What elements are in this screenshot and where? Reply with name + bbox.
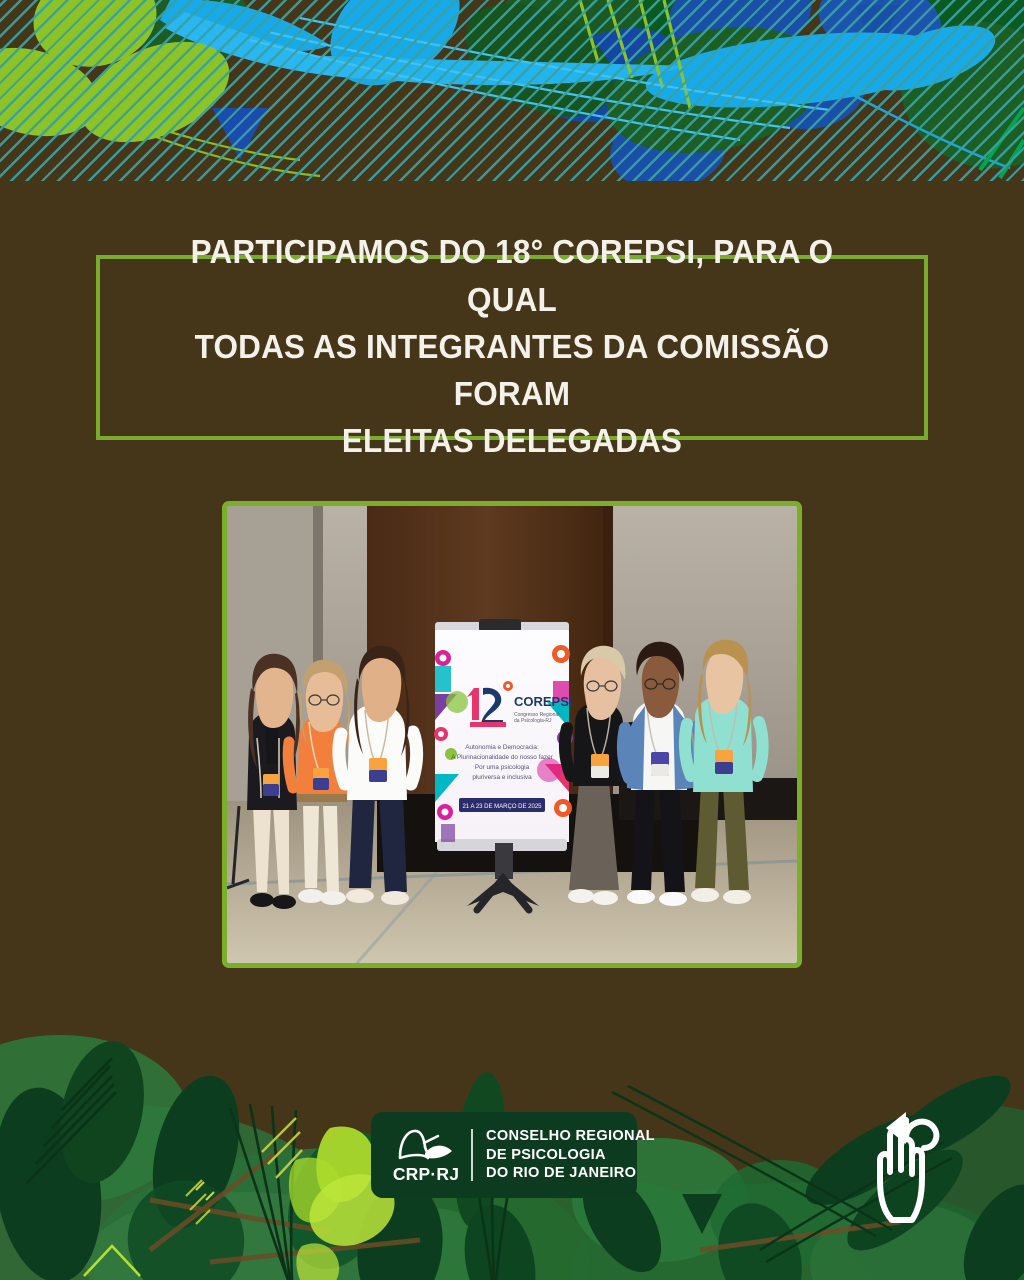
svg-text:A Plurinacionalidade do nosso: A Plurinacionalidade do nosso fazer (451, 754, 553, 761)
svg-text:21 A 23 DE MARÇO DE 2025: 21 A 23 DE MARÇO DE 2025 (462, 804, 542, 810)
page-title: PARTICIPAMOS DO 18° COREPSI, PARA O QUAL… (149, 229, 875, 465)
svg-text:COREPSI: COREPSI (514, 694, 573, 709)
event-photo-frame: COREPSI Congresso Regional da Psicologia… (222, 501, 802, 968)
crp-rj-logo-badge: CRP·RJ CONSELHO REGIONAL DE PSICOLOGIA D… (371, 1112, 637, 1198)
logo-line-3: DO RIO DE JANEIRO (486, 1165, 655, 1182)
open-book-bird-icon (394, 1127, 458, 1165)
event-photo: COREPSI Congresso Regional da Psicologia… (227, 506, 797, 963)
event-photo-illustration: COREPSI Congresso Regional da Psicologia… (227, 506, 797, 963)
logo-divider (471, 1129, 473, 1181)
headline-line-2: TODAS AS INTEGRANTES DA COMISSÃO FORAM (195, 329, 830, 413)
svg-text:Por uma psicologia: Por uma psicologia (475, 764, 530, 771)
swipe-left-hand-icon[interactable] (858, 1098, 970, 1226)
top-banner-foliage-graphic (0, 0, 1024, 181)
svg-text:pluriversa e inclusiva: pluriversa e inclusiva (472, 774, 532, 781)
headline-line-3: ELEITAS DELEGADAS (342, 423, 682, 460)
crp-rj-wordmark: CRP·RJ (393, 1166, 459, 1184)
logo-line-2: DE PSICOLOGIA (486, 1147, 655, 1164)
swipe-gesture-glyph (858, 1098, 970, 1226)
logo-text-lines: CONSELHO REGIONAL DE PSICOLOGIA DO RIO D… (486, 1128, 655, 1183)
social-post-canvas: PARTICIPAMOS DO 18° COREPSI, PARA O QUAL… (0, 0, 1024, 1280)
headline-box: PARTICIPAMOS DO 18° COREPSI, PARA O QUAL… (96, 255, 928, 440)
crp-rj-logo-mark: CRP·RJ (387, 1127, 465, 1184)
logo-line-1: CONSELHO REGIONAL (486, 1128, 655, 1145)
svg-text:Autonomia e Democracia:: Autonomia e Democracia: (465, 744, 539, 751)
headline-line-1: PARTICIPAMOS DO 18° COREPSI, PARA O QUAL (191, 234, 834, 318)
svg-text:da Psicologia-RJ: da Psicologia-RJ (514, 718, 552, 724)
top-decorative-banner (0, 0, 1024, 181)
